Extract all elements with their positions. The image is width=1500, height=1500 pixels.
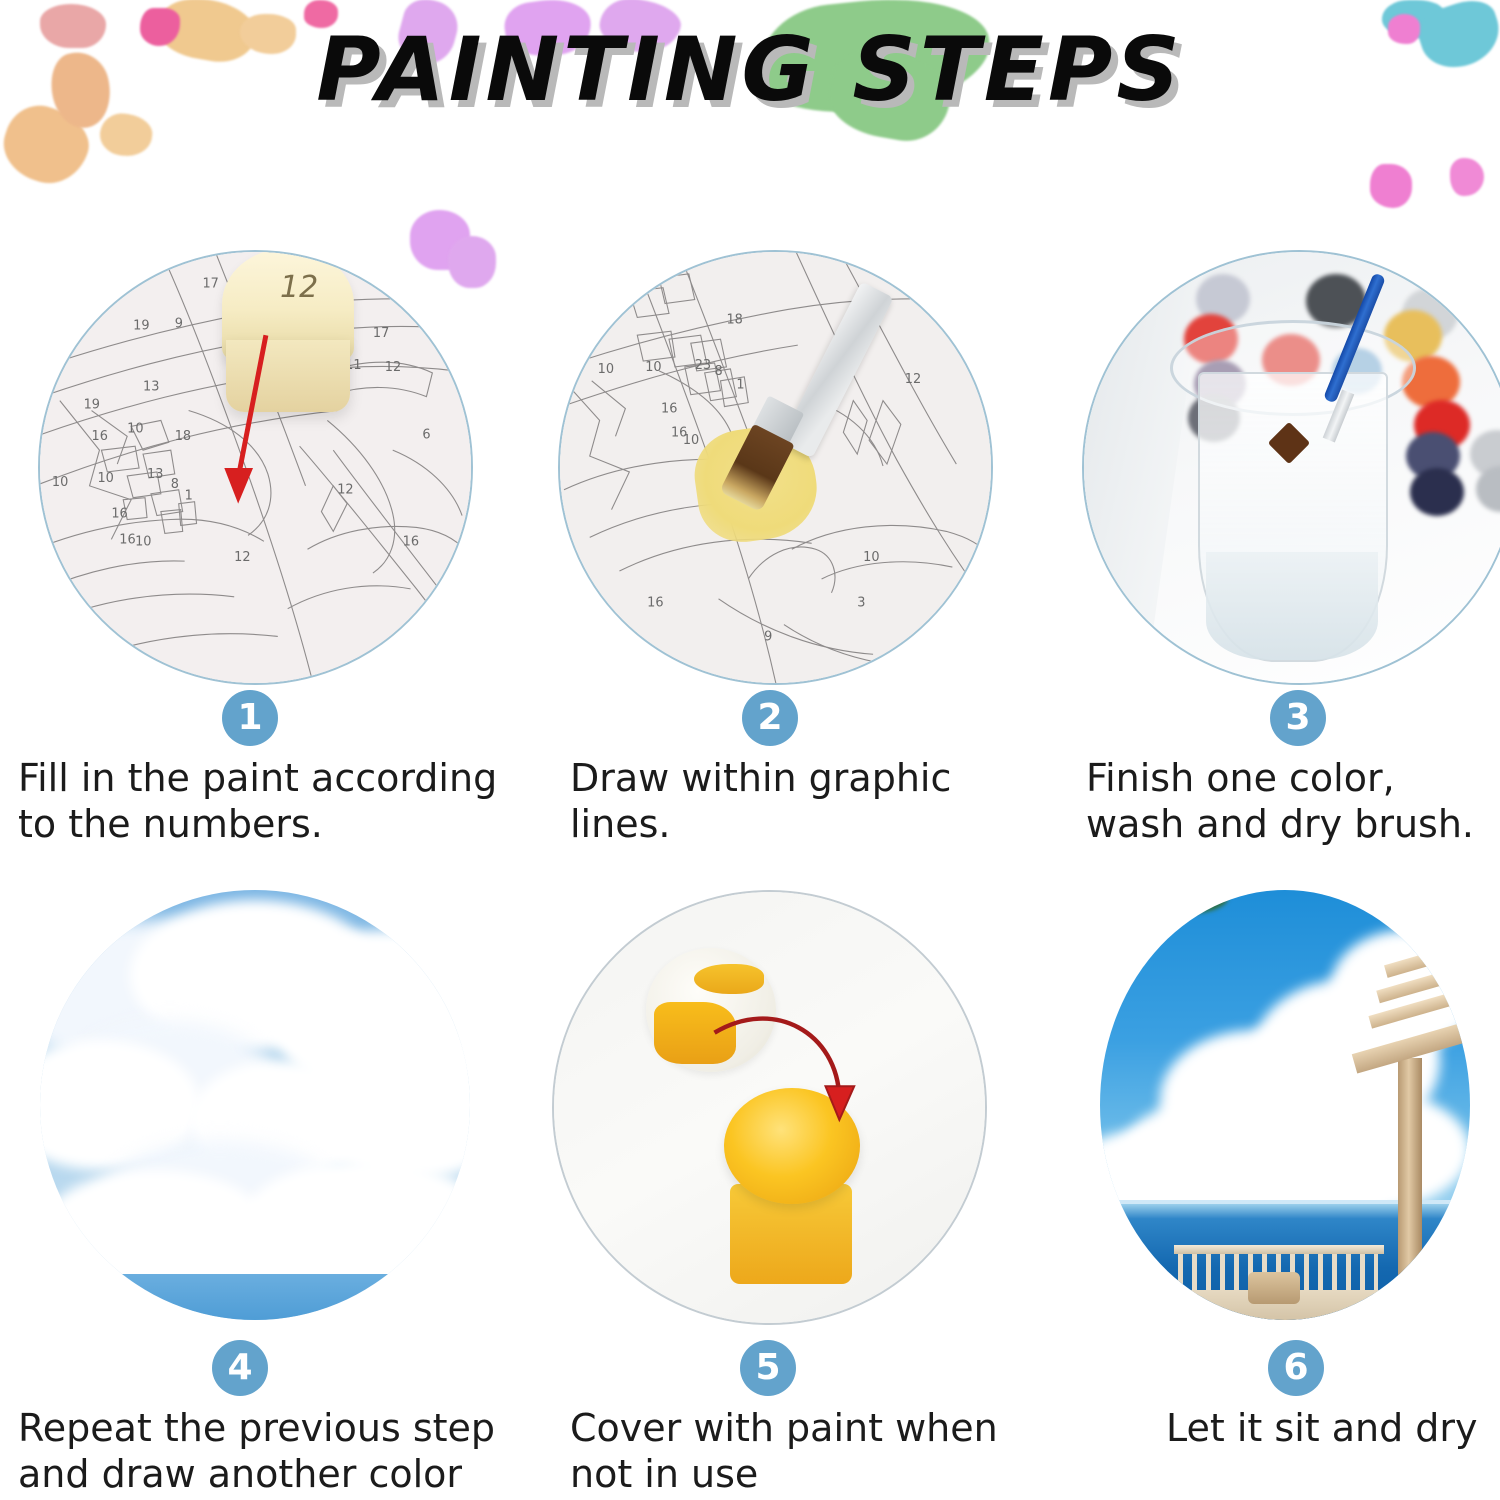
water-level bbox=[1206, 552, 1378, 660]
numbered-canvas-art: 18 10 10 16 16 10 23 8 1 12 10 16 3 9 bbox=[560, 252, 991, 683]
step-6-caption: Let it sit and dry bbox=[1166, 1405, 1500, 1451]
paint-splatter bbox=[1370, 164, 1412, 208]
paint-pot-dot bbox=[1410, 468, 1464, 516]
numbered-canvas-art: 17 19 9 13 19 10 16 18 10 10 13 8 1 16 1… bbox=[40, 252, 471, 683]
svg-text:10: 10 bbox=[645, 360, 661, 375]
deck-floor bbox=[1156, 1290, 1456, 1320]
pergola-post bbox=[1398, 1058, 1422, 1308]
step-5-caption: Cover with paint when not in use bbox=[570, 1405, 1040, 1497]
svg-text:10: 10 bbox=[683, 433, 699, 448]
step-5-image bbox=[552, 890, 987, 1325]
step-1-caption: Fill in the paint according to the numbe… bbox=[18, 755, 538, 847]
svg-text:10: 10 bbox=[598, 362, 614, 377]
step-3-badge: 3 bbox=[1270, 690, 1326, 746]
svg-text:23: 23 bbox=[695, 358, 711, 373]
svg-text:9: 9 bbox=[764, 629, 772, 644]
step-1-image: 17 19 9 13 19 10 16 18 10 10 13 8 1 16 1… bbox=[38, 250, 473, 685]
svg-text:18: 18 bbox=[726, 312, 742, 327]
svg-text:10: 10 bbox=[863, 550, 879, 565]
deck-object bbox=[1248, 1272, 1300, 1304]
svg-text:16: 16 bbox=[647, 596, 663, 611]
step-4-caption: Repeat the previous step and draw anothe… bbox=[18, 1405, 538, 1497]
step-2-caption: Draw within graphic lines. bbox=[570, 755, 1040, 847]
step-2-image: 18 10 10 16 16 10 23 8 1 12 10 16 3 9 bbox=[558, 250, 993, 685]
deck-railing-top bbox=[1174, 1245, 1384, 1254]
step-3-image bbox=[1082, 250, 1500, 685]
step-4-image bbox=[40, 890, 470, 1320]
horizon-water bbox=[40, 1274, 470, 1320]
curved-red-arrow-icon bbox=[554, 892, 985, 1323]
svg-text:8: 8 bbox=[715, 364, 723, 379]
step-1-badge: 1 bbox=[222, 690, 278, 746]
step-3-caption: Finish one color, wash and dry brush. bbox=[1086, 755, 1500, 847]
step-5-badge: 5 bbox=[740, 1340, 796, 1396]
page-title: PAINTING STEPS bbox=[0, 18, 1500, 121]
svg-text:1: 1 bbox=[736, 378, 744, 393]
red-down-arrow-icon bbox=[40, 252, 471, 683]
svg-text:3: 3 bbox=[857, 596, 865, 611]
step-2-badge: 2 bbox=[742, 690, 798, 746]
paint-splatter bbox=[1450, 158, 1484, 196]
step-6-badge: 6 bbox=[1268, 1340, 1324, 1396]
svg-text:12: 12 bbox=[905, 372, 921, 387]
step-6-image bbox=[1100, 890, 1470, 1320]
step-4-badge: 4 bbox=[212, 1340, 268, 1396]
svg-text:16: 16 bbox=[661, 402, 677, 417]
